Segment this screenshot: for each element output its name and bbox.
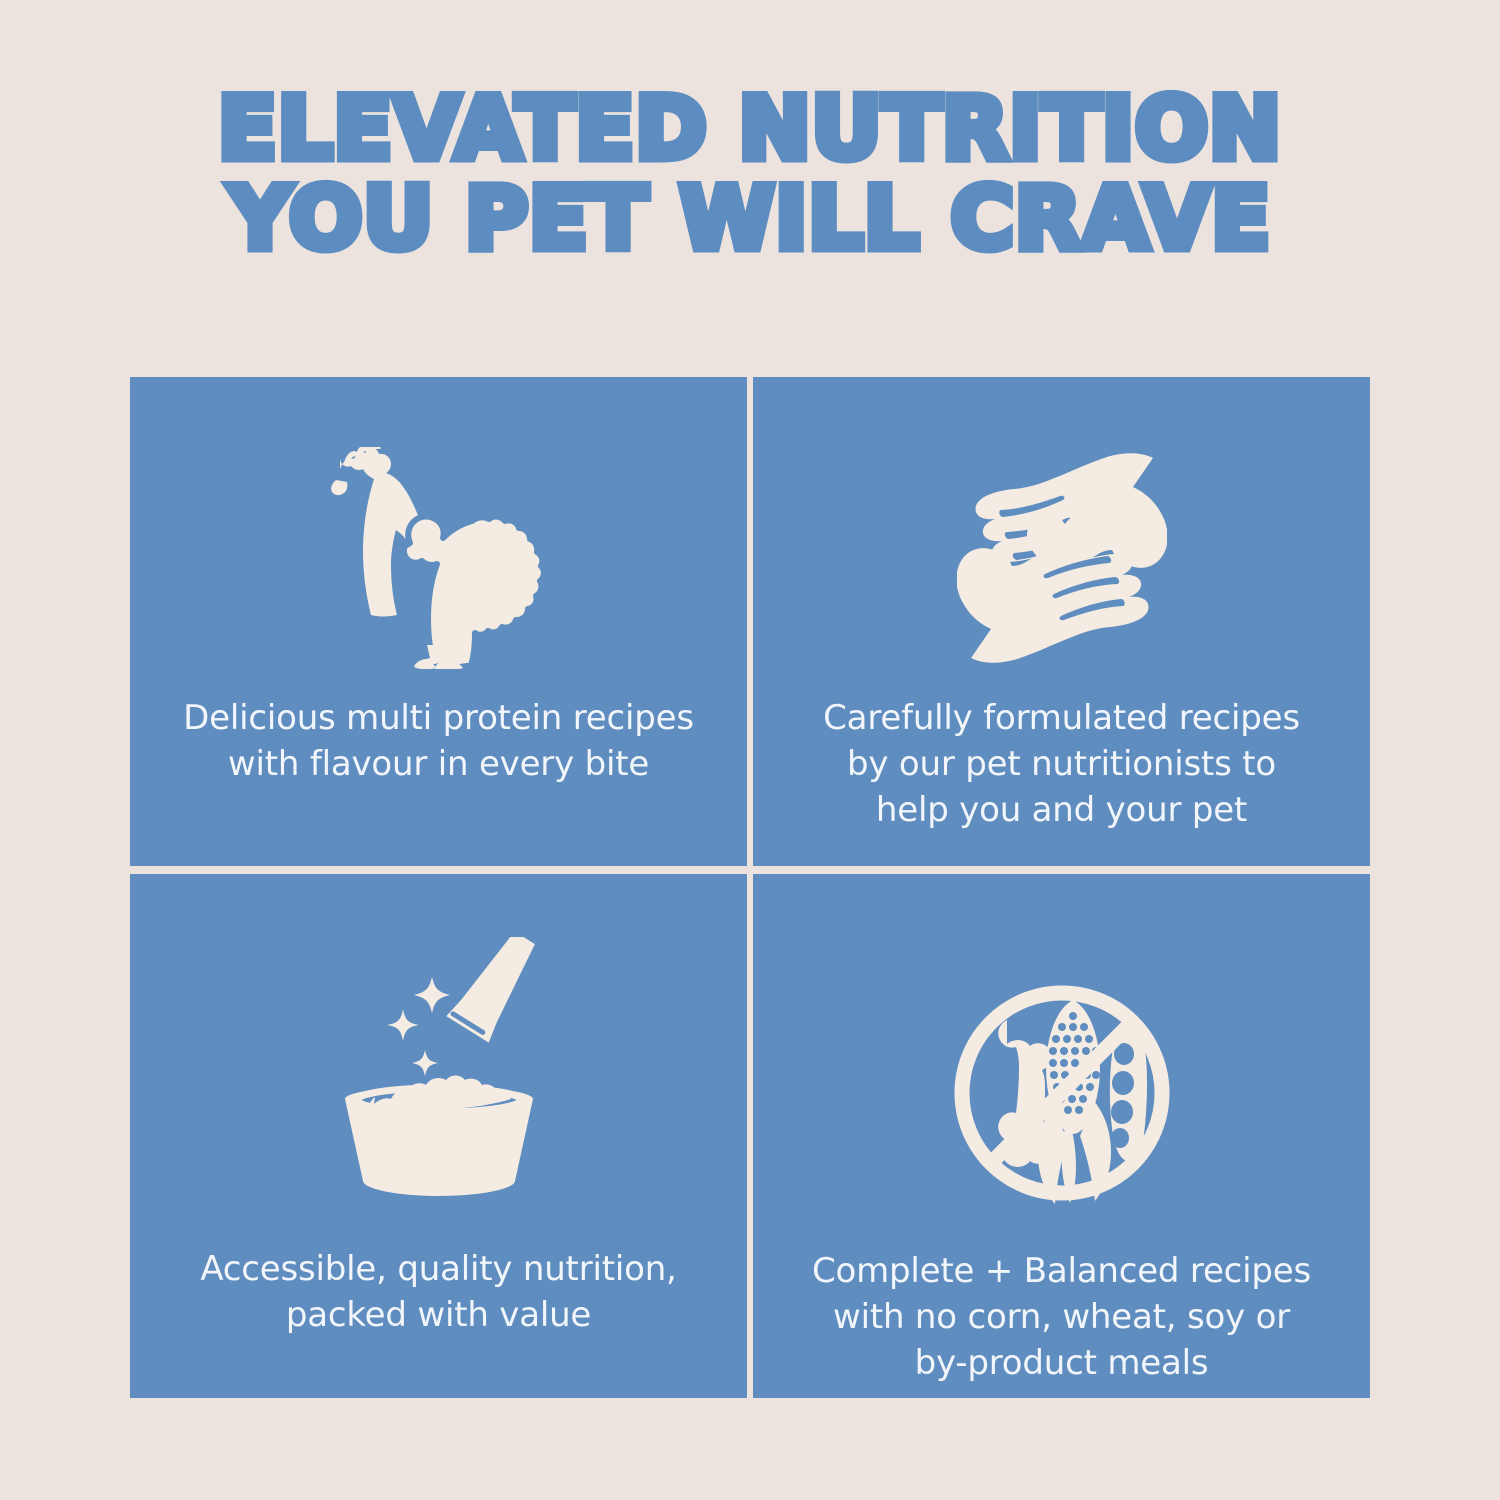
page-title-line-1: ELEVATED NUTRITION [0,84,1500,174]
chicken-turkey-icon [314,447,564,669]
hands-holding-heart-icon-wrap [957,377,1167,677]
feature-panel-multi-protein: Delicious multi protein recipes with fla… [130,377,747,866]
food-bowl-pouch-sparkles-icon [319,937,559,1217]
hands-holding-heart-icon [957,448,1167,668]
feature-caption: Accessible, quality nutrition, packed wi… [200,1246,676,1338]
feature-caption: Carefully formulated recipes by our pet … [823,695,1300,833]
feature-caption: Complete + Balanced recipes with no corn… [812,1248,1311,1386]
feature-panel-formulated-recipes: Carefully formulated recipes by our pet … [753,377,1370,866]
feature-panel-no-corn-wheat-soy: Complete + Balanced recipes with no corn… [753,874,1370,1398]
no-corn-wheat-soy-icon [951,982,1173,1204]
infographic-page: ELEVATED NUTRITION YOU PET WILL CRAVE [0,0,1500,1500]
feature-grid: Delicious multi protein recipes with fla… [130,377,1370,1398]
no-corn-wheat-soy-icon-wrap [951,874,1173,1224]
feature-caption: Delicious multi protein recipes with fla… [183,695,694,787]
page-title: ELEVATED NUTRITION YOU PET WILL CRAVE [0,84,1500,264]
feature-panel-accessible-nutrition: Accessible, quality nutrition, packed wi… [130,874,747,1398]
chicken-turkey-icon-wrap [314,377,564,677]
page-title-line-2: YOU PET WILL CRAVE [0,174,1500,264]
food-bowl-pouch-sparkles-icon-wrap [319,874,559,1224]
